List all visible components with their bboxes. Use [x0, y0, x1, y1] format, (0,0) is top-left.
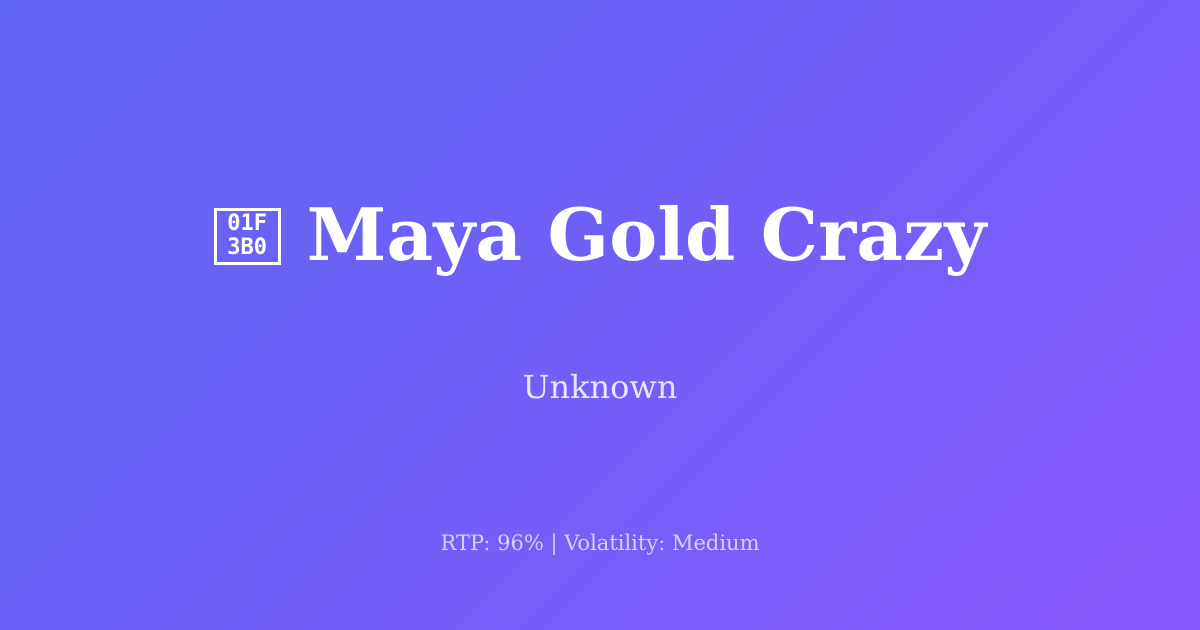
emoji-codepoint-line-1: 01F — [227, 212, 267, 236]
game-stats-line: RTP: 96% | Volatility: Medium — [0, 528, 1200, 558]
game-provider-subtitle: Unknown — [0, 365, 1200, 409]
game-preview-card: 01F 3B0 Maya Gold Crazy Unknown RTP: 96%… — [0, 0, 1200, 630]
slot-machine-emoji-icon: 01F 3B0 — [214, 208, 281, 265]
page-title: 01F 3B0 Maya Gold Crazy — [60, 197, 1140, 273]
game-title-text: Maya Gold Crazy — [307, 197, 987, 273]
emoji-codepoint-line-2: 3B0 — [227, 236, 267, 260]
